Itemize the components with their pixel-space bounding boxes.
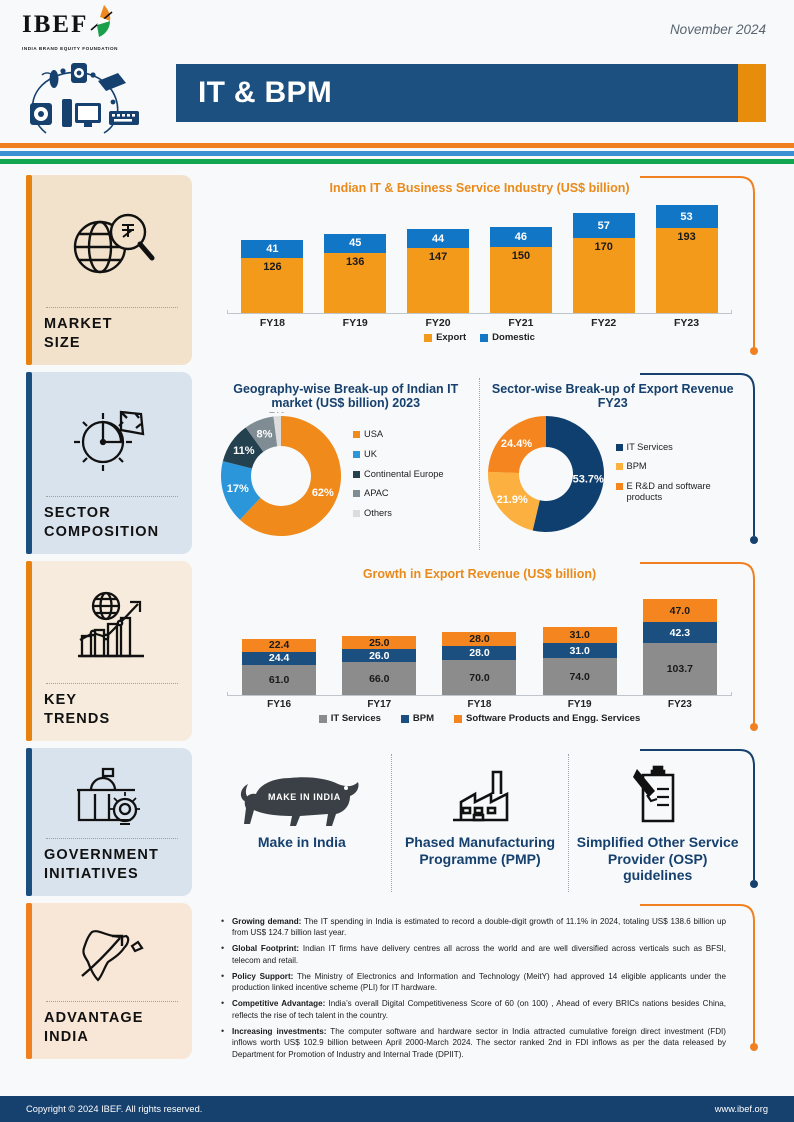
sidebar-item-sector-composition[interactable]: SECTOR COMPOSITION xyxy=(26,372,192,554)
legend-label: Continental Europe xyxy=(364,469,444,480)
initiative-make-in-india[interactable]: MAKE IN INDIA Make in India xyxy=(213,754,391,892)
legend-label: E R&D and software products xyxy=(627,481,743,502)
technology-collage-icon xyxy=(16,55,166,140)
bar-segment-software-products: 22.4 xyxy=(242,639,316,652)
donut-slice-label: 62% xyxy=(312,487,334,499)
legend-item: Others xyxy=(353,508,444,519)
legend-label: IT Services xyxy=(627,442,673,453)
legend-item: Domestic xyxy=(480,332,535,343)
donut-slice-label: 17% xyxy=(227,483,249,495)
legend-swatch xyxy=(616,444,623,451)
sidebar-item-key-trends[interactable]: KEY TRENDS xyxy=(26,561,192,741)
legend-item: USA xyxy=(353,429,444,440)
legend-swatch xyxy=(353,490,360,497)
legend-item: UK xyxy=(353,449,444,460)
sidebar-item-label-2: INDIA xyxy=(44,1028,180,1048)
legend-swatch xyxy=(616,483,623,490)
sidebar-item-label: MARKET xyxy=(44,315,180,335)
bullet-text: Competitive Advantage: India’s overall D… xyxy=(232,998,726,1021)
footer-copyright: Copyright © 2024 IBEF. All rights reserv… xyxy=(26,1104,202,1114)
page-footer: Copyright © 2024 IBEF. All rights reserv… xyxy=(0,1096,794,1122)
section-advantage-india: ADVANTAGE INDIA •Growing demand: The IT … xyxy=(0,903,794,1059)
panel-sector-composition-charts: Geography-wise Break-up of Indian IT mar… xyxy=(203,372,768,554)
donut-slice-label: 53.7% xyxy=(572,473,603,485)
bar-segment-export: 136 xyxy=(324,253,386,313)
logo-wordmark: IBEF xyxy=(22,12,88,37)
section-government-initiatives: GOVERNMENT INITIATIVES xyxy=(0,748,794,896)
bar-segment-export: 150 xyxy=(490,247,552,313)
advantage-bullet-item: •Growing demand: The IT spending in Indi… xyxy=(221,916,726,939)
legend-swatch xyxy=(454,715,462,723)
bar-segment-bpm: 42.3 xyxy=(643,622,717,643)
bar-column: 22.424.461.0 xyxy=(242,639,316,695)
sidebar-item-advantage-india[interactable]: ADVANTAGE INDIA xyxy=(26,903,192,1059)
chart-legend: IT ServicesBPME R&D and software product… xyxy=(616,442,743,512)
bar-column: 41126 xyxy=(241,240,303,313)
initiative-osp[interactable]: Simplified Other Service Provider (OSP) … xyxy=(568,754,746,892)
legend-label: Domestic xyxy=(492,332,535,343)
advantage-bullet-item: •Increasing investments: The computer so… xyxy=(221,1026,726,1060)
bullet-lead: Competitive Advantage: xyxy=(232,999,325,1008)
page-title: IT & BPM xyxy=(198,76,332,110)
x-axis-tick-label: FY19 xyxy=(543,699,617,710)
legend-item: IT Services xyxy=(319,713,381,724)
bar-segment-bpm: 28.0 xyxy=(442,646,516,660)
gear-pie-chart-icon xyxy=(44,382,180,492)
footer-website-link[interactable]: www.ibef.org xyxy=(715,1104,768,1114)
title-bar-accent xyxy=(738,64,766,122)
bullet-text: Policy Support: The Ministry of Electron… xyxy=(232,971,726,994)
legend-label: BPM xyxy=(627,461,647,472)
bar-segment-it-services: 61.0 xyxy=(242,665,316,695)
bar-segment-domestic: 45 xyxy=(324,234,386,254)
sidebar-item-label: SECTOR xyxy=(44,504,180,524)
sidebar-item-label-2: TRENDS xyxy=(44,710,180,730)
sidebar-item-label-2: SIZE xyxy=(44,334,180,354)
x-axis-tick-label: FY18 xyxy=(442,699,516,710)
x-axis-tick-label: FY21 xyxy=(490,317,552,329)
chart-sector-breakup: Sector-wise Break-up of Export Revenue F… xyxy=(480,378,747,550)
legend-item: APAC xyxy=(353,488,444,499)
chart-title: Geography-wise Break-up of Indian IT mar… xyxy=(217,382,475,410)
sidebar-item-label: KEY xyxy=(44,691,180,711)
ibef-logo[interactable]: IBEF INDIA BRAND EQUITY FOUNDATION xyxy=(22,12,157,51)
clipboard-pen-icon xyxy=(629,762,687,828)
bar-segment-domestic: 46 xyxy=(490,227,552,247)
chart-geography-breakup: Geography-wise Break-up of Indian IT mar… xyxy=(213,378,480,550)
bar-segment-bpm: 24.4 xyxy=(242,652,316,665)
india-map-arrow-icon xyxy=(44,913,180,997)
legend-label: Export xyxy=(436,332,466,343)
bar-column: 28.028.070.0 xyxy=(442,632,516,695)
decorative-stripes xyxy=(0,143,794,164)
panel-key-trends-chart: Growth in Export Revenue (US$ billion) 2… xyxy=(203,561,768,741)
legend-item: BPM xyxy=(401,713,434,724)
donut-slice-label: 8% xyxy=(256,429,272,441)
legend-swatch xyxy=(353,510,360,517)
bullet-dot: • xyxy=(221,998,232,1021)
legend-label: IT Services xyxy=(331,713,381,724)
page-content: MARKET SIZE Indian IT & Business Service… xyxy=(0,175,794,1066)
page-header: IBEF INDIA BRAND EQUITY FOUNDATION xyxy=(0,0,794,140)
bar-column: 57170 xyxy=(573,213,635,313)
bar-column: 47.042.3103.7 xyxy=(643,599,717,695)
bullet-text: Global Footprint: Indian IT firms have d… xyxy=(232,943,726,966)
bar-segment-it-services: 74.0 xyxy=(543,658,617,695)
section-market-size: MARKET SIZE Indian IT & Business Service… xyxy=(0,175,794,365)
bar-segment-software-products: 25.0 xyxy=(342,636,416,649)
chart-legend: ExportDomestic xyxy=(213,332,746,343)
initiative-label: Phased Manufacturing Programme (PMP) xyxy=(398,834,563,867)
initiative-label: Simplified Other Service Provider (OSP) … xyxy=(575,834,740,884)
bullet-dot: • xyxy=(221,943,232,966)
section-key-trends: KEY TRENDS Growth in Export Revenue (US$… xyxy=(0,561,794,741)
bar-column: 46150 xyxy=(490,227,552,313)
make-in-india-lion-icon: MAKE IN INDIA xyxy=(238,762,366,828)
sidebar-item-label-2: INITIATIVES xyxy=(44,865,180,885)
legend-swatch xyxy=(353,471,360,478)
legend-swatch xyxy=(616,463,623,470)
bar-column: 31.031.074.0 xyxy=(543,627,617,695)
sidebar-item-label-2: COMPOSITION xyxy=(44,523,180,543)
donut-slice-label: 21.9% xyxy=(496,494,527,506)
x-axis-tick-label: FY20 xyxy=(407,317,469,329)
legend-swatch xyxy=(353,451,360,458)
chart-growth-in-export-revenue: 22.424.461.025.026.066.028.028.070.031.0… xyxy=(213,595,746,724)
legend-swatch xyxy=(480,334,488,342)
bar-segment-domestic: 44 xyxy=(407,229,469,248)
svg-text:MAKE IN INDIA: MAKE IN INDIA xyxy=(268,792,341,802)
government-building-bulb-gear-icon xyxy=(44,758,180,834)
bullet-lead: Policy Support: xyxy=(232,972,293,981)
panel-market-size-chart: Indian IT & Business Service Industry (U… xyxy=(203,175,768,365)
x-axis-labels: FY16FY17FY18FY19FY23 xyxy=(213,699,746,710)
legend-item: Software Products and Engg. Services xyxy=(454,713,640,724)
bar-segment-software-products: 28.0 xyxy=(442,632,516,646)
bar-segment-bpm: 26.0 xyxy=(342,649,416,662)
bullet-text: Increasing investments: The computer sof… xyxy=(232,1026,726,1060)
sidebar-item-label: GOVERNMENT xyxy=(44,846,180,866)
chart-indian-it-business-service-industry: 411264513644147461505717053193 FY18FY19F… xyxy=(213,201,746,343)
legend-label: Software Products and Engg. Services xyxy=(466,713,640,724)
legend-label: BPM xyxy=(413,713,434,724)
logo-subtitle: INDIA BRAND EQUITY FOUNDATION xyxy=(22,46,157,51)
x-axis-tick-label: FY18 xyxy=(241,317,303,329)
initiative-pmp[interactable]: Phased Manufacturing Programme (PMP) xyxy=(391,754,569,892)
bar-segment-software-products: 47.0 xyxy=(643,599,717,622)
advantage-bullet-item: •Policy Support: The Ministry of Electro… xyxy=(221,971,726,994)
advantage-bullet-item: •Competitive Advantage: India’s overall … xyxy=(221,998,726,1021)
legend-label: Others xyxy=(364,508,392,519)
sidebar-item-government-initiatives[interactable]: GOVERNMENT INITIATIVES xyxy=(26,748,192,896)
chart-title: Indian IT & Business Service Industry (U… xyxy=(213,181,746,195)
bar-chart-plot: 411264513644147461505717053193 xyxy=(213,201,746,313)
x-axis-tick-label: FY23 xyxy=(656,317,718,329)
bullet-text: Growing demand: The IT spending in India… xyxy=(232,916,726,939)
bullet-lead: Increasing investments: xyxy=(232,1027,326,1036)
chart-legend: IT ServicesBPMSoftware Products and Engg… xyxy=(213,713,746,724)
bar-chart-plot: 22.424.461.025.026.066.028.028.070.031.0… xyxy=(213,595,746,695)
legend-swatch xyxy=(401,715,409,723)
globe-magnifier-rupee-icon xyxy=(44,185,180,303)
legend-item: IT Services xyxy=(616,442,743,453)
legend-swatch xyxy=(424,334,432,342)
factory-icon xyxy=(449,762,511,828)
legend-item: Continental Europe xyxy=(353,469,444,480)
panel-advantage-india-bullets: •Growing demand: The IT spending in Indi… xyxy=(203,903,768,1059)
x-axis-tick-label: FY22 xyxy=(573,317,635,329)
bar-segment-it-services: 103.7 xyxy=(643,643,717,695)
bullet-dot: • xyxy=(221,916,232,939)
donut-slice-label: 11% xyxy=(233,445,255,457)
bar-segment-export: 170 xyxy=(573,238,635,313)
legend-label: APAC xyxy=(364,488,389,499)
legend-item: BPM xyxy=(616,461,743,472)
x-axis-tick-label: FY16 xyxy=(242,699,316,710)
x-axis-tick-label: FY17 xyxy=(342,699,416,710)
bullet-lead: Growing demand: xyxy=(232,917,301,926)
chart-title: Sector-wise Break-up of Export Revenue F… xyxy=(484,382,743,410)
chart-title: Growth in Export Revenue (US$ billion) xyxy=(213,567,746,581)
donut-chart-geography: 62%17%11%8%2% xyxy=(217,412,345,545)
bar-segment-software-products: 31.0 xyxy=(543,627,617,642)
bar-column: 25.026.066.0 xyxy=(342,636,416,695)
bullet-dot: • xyxy=(221,1026,232,1060)
india-flag-swoosh-icon xyxy=(86,4,116,43)
x-axis-tick-label: FY23 xyxy=(643,699,717,710)
stripe-green xyxy=(0,159,794,164)
advantage-bullet-item: •Global Footprint: Indian IT firms have … xyxy=(221,943,726,966)
report-date: November 2024 xyxy=(670,22,766,37)
legend-label: UK xyxy=(364,449,377,460)
bar-segment-domestic: 41 xyxy=(241,240,303,258)
bullet-lead: Global Footprint: xyxy=(232,944,299,953)
legend-swatch xyxy=(319,715,327,723)
bar-segment-it-services: 70.0 xyxy=(442,660,516,695)
chart-legend: USAUKContinental EuropeAPACOthers xyxy=(353,429,444,527)
x-axis-tick-label: FY19 xyxy=(324,317,386,329)
bar-column: 45136 xyxy=(324,234,386,313)
panel-government-initiatives: MAKE IN INDIA Make in India xyxy=(203,748,768,896)
legend-label: USA xyxy=(364,429,383,440)
bar-segment-export: 147 xyxy=(407,248,469,313)
bar-column: 44147 xyxy=(407,229,469,313)
donut-slice-label: 24.4% xyxy=(500,438,531,450)
bar-segment-export: 193 xyxy=(656,228,718,313)
initiative-label: Make in India xyxy=(258,834,346,851)
globe-growth-bars-icon xyxy=(44,571,180,679)
legend-item: Export xyxy=(424,332,466,343)
sidebar-item-market-size[interactable]: MARKET SIZE xyxy=(26,175,192,365)
advantage-bullet-list: •Growing demand: The IT spending in Indi… xyxy=(213,909,746,1067)
section-sector-composition: SECTOR COMPOSITION Geography-wise Break-… xyxy=(0,372,794,554)
legend-item: E R&D and software products xyxy=(616,481,743,502)
donut-slice-label: 2% xyxy=(269,412,285,416)
legend-swatch xyxy=(353,431,360,438)
donut-chart-sector: 53.7%21.9%24.4% xyxy=(484,412,608,541)
bar-segment-domestic: 57 xyxy=(573,213,635,238)
page-title-bar: IT & BPM xyxy=(176,64,766,122)
bullet-dot: • xyxy=(221,971,232,994)
bar-segment-it-services: 66.0 xyxy=(342,662,416,695)
x-axis-labels: FY18FY19FY20FY21FY22FY23 xyxy=(213,317,746,329)
bar-segment-domestic: 53 xyxy=(656,205,718,228)
bar-segment-export: 126 xyxy=(241,258,303,313)
sidebar-item-label: ADVANTAGE xyxy=(44,1009,180,1029)
bar-column: 53193 xyxy=(656,205,718,313)
bar-segment-bpm: 31.0 xyxy=(543,643,617,658)
